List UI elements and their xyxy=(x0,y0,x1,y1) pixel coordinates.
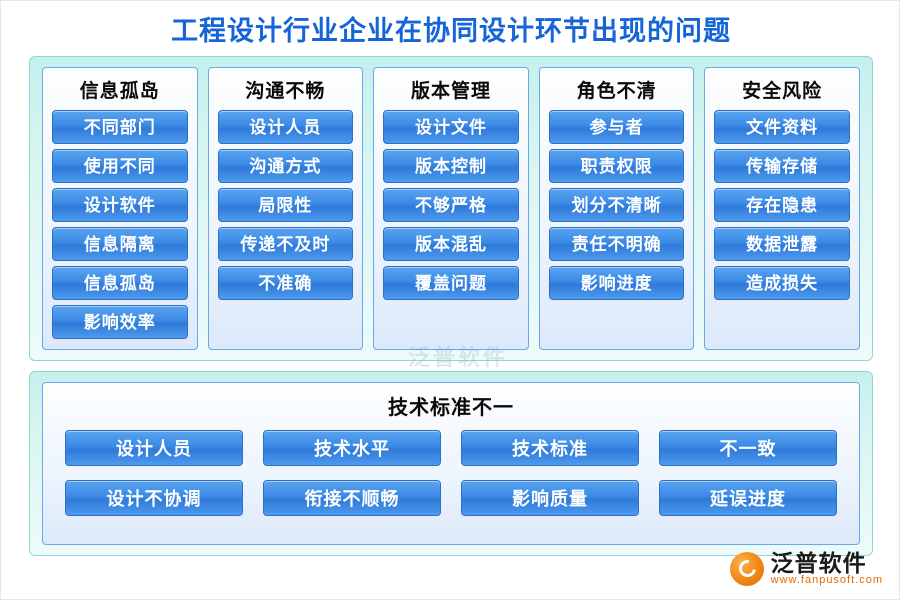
chip[interactable]: 不同部门 xyxy=(52,110,188,144)
chip[interactable]: 延误进度 xyxy=(659,480,837,516)
chip[interactable]: 覆盖问题 xyxy=(383,266,519,300)
bottom-chip-grid: 设计人员 技术水平 技术标准 不一致 设计不协调 衔接不顺畅 影响质量 延误进度 xyxy=(65,430,837,516)
logo-url: www.fanpusoft.com xyxy=(771,575,883,587)
category-column-information-island: 信息孤岛 不同部门 使用不同 设计软件 信息隔离 信息孤岛 影响效率 xyxy=(42,67,198,350)
category-columns: 信息孤岛 不同部门 使用不同 设计软件 信息隔离 信息孤岛 影响效率 沟通不畅 … xyxy=(42,67,860,350)
column-header: 安全风险 xyxy=(742,76,822,103)
chip[interactable]: 版本混乱 xyxy=(383,227,519,261)
page-title: 工程设计行业企业在协同设计环节出现的问题 xyxy=(1,9,900,48)
chip[interactable]: 使用不同 xyxy=(52,149,188,183)
chip[interactable]: 划分不清晰 xyxy=(549,188,685,222)
chip[interactable]: 衔接不顺畅 xyxy=(263,480,441,516)
chip[interactable]: 存在隐患 xyxy=(714,188,850,222)
chip[interactable]: 设计软件 xyxy=(52,188,188,222)
chip[interactable]: 影响效率 xyxy=(52,305,188,339)
chip[interactable]: 设计人员 xyxy=(65,430,243,466)
chip[interactable]: 技术水平 xyxy=(263,430,441,466)
chip[interactable]: 影响进度 xyxy=(549,266,685,300)
column-header: 信息孤岛 xyxy=(80,76,160,103)
chip[interactable]: 不够严格 xyxy=(383,188,519,222)
chip[interactable]: 数据泄露 xyxy=(714,227,850,261)
brand-logo: 泛普软件 www.fanpusoft.com xyxy=(730,551,883,587)
category-column-security-risk: 安全风险 文件资料 传输存储 存在隐患 数据泄露 造成损失 xyxy=(704,67,860,350)
top-panel: 信息孤岛 不同部门 使用不同 设计软件 信息隔离 信息孤岛 影响效率 沟通不畅 … xyxy=(29,56,873,361)
chip[interactable]: 文件资料 xyxy=(714,110,850,144)
technical-standard-group: 技术标准不一 设计人员 技术水平 技术标准 不一致 设计不协调 衔接不顺畅 影响… xyxy=(42,382,860,545)
chip[interactable]: 责任不明确 xyxy=(549,227,685,261)
diagram-page: 工程设计行业企业在协同设计环节出现的问题 信息孤岛 不同部门 使用不同 设计软件… xyxy=(0,0,900,600)
column-header: 版本管理 xyxy=(411,76,491,103)
chip[interactable]: 信息隔离 xyxy=(52,227,188,261)
bottom-header: 技术标准不一 xyxy=(388,391,514,420)
category-column-version-management: 版本管理 设计文件 版本控制 不够严格 版本混乱 覆盖问题 xyxy=(373,67,529,350)
chip[interactable]: 造成损失 xyxy=(714,266,850,300)
chip[interactable]: 职责权限 xyxy=(549,149,685,183)
chip[interactable]: 不一致 xyxy=(659,430,837,466)
chip[interactable]: 设计文件 xyxy=(383,110,519,144)
chip[interactable]: 参与者 xyxy=(549,110,685,144)
chip[interactable]: 传输存储 xyxy=(714,149,850,183)
bottom-panel: 技术标准不一 设计人员 技术水平 技术标准 不一致 设计不协调 衔接不顺畅 影响… xyxy=(29,371,873,556)
chip[interactable]: 不准确 xyxy=(218,266,354,300)
chip[interactable]: 局限性 xyxy=(218,188,354,222)
logo-name: 泛普软件 xyxy=(771,551,883,575)
chip[interactable]: 影响质量 xyxy=(461,480,639,516)
chip[interactable]: 设计不协调 xyxy=(65,480,243,516)
category-column-unclear-roles: 角色不清 参与者 职责权限 划分不清晰 责任不明确 影响进度 xyxy=(539,67,695,350)
chip[interactable]: 版本控制 xyxy=(383,149,519,183)
chip[interactable]: 设计人员 xyxy=(218,110,354,144)
category-column-poor-communication: 沟通不畅 设计人员 沟通方式 局限性 传递不及时 不准确 xyxy=(208,67,364,350)
chip[interactable]: 传递不及时 xyxy=(218,227,354,261)
chip[interactable]: 信息孤岛 xyxy=(52,266,188,300)
column-header: 角色不清 xyxy=(577,76,657,103)
swoosh-icon xyxy=(730,552,764,586)
column-header: 沟通不畅 xyxy=(245,76,325,103)
chip[interactable]: 技术标准 xyxy=(461,430,639,466)
logo-text: 泛普软件 www.fanpusoft.com xyxy=(771,551,883,587)
chip[interactable]: 沟通方式 xyxy=(218,149,354,183)
